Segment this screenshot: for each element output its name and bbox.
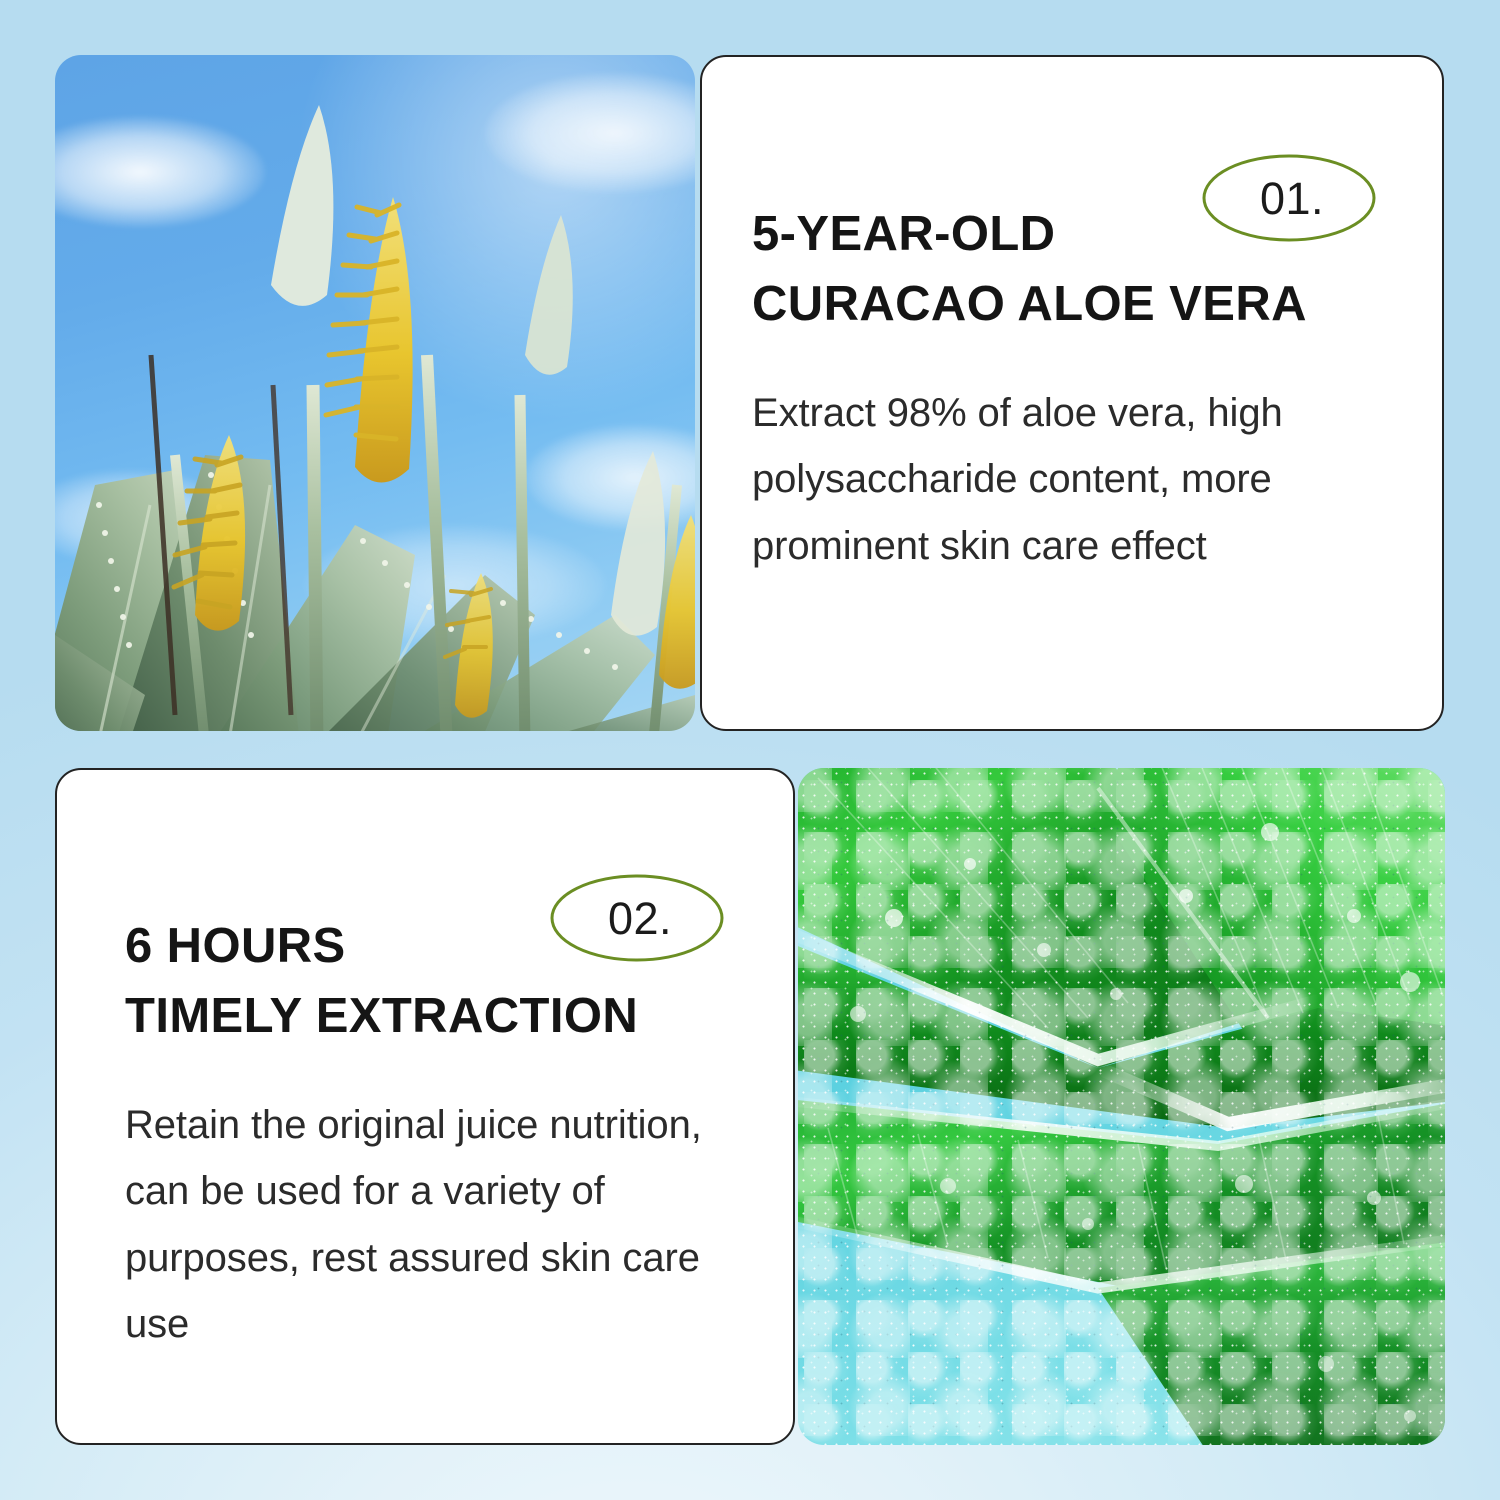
feature-board: 01. 5-YEAR-OLD CURACAO ALOE VERA Extract… bbox=[0, 0, 1500, 1500]
feature-heading-01: 5-YEAR-OLD CURACAO ALOE VERA bbox=[752, 200, 1307, 339]
feature-body-02: Retain the original juice nutrition, can… bbox=[125, 1092, 725, 1358]
gel-droplet-texture bbox=[798, 768, 1445, 1445]
feature-heading-01-line-2: CURACAO ALOE VERA bbox=[752, 270, 1307, 340]
aloe-leaves-illustration bbox=[55, 55, 695, 731]
aloe-gel-photo bbox=[798, 768, 1445, 1445]
aloe-flower-photo bbox=[55, 55, 695, 731]
feature-heading-02-line-2: TIMELY EXTRACTION bbox=[125, 982, 638, 1052]
feature-heading-02: 6 HOURS TIMELY EXTRACTION bbox=[125, 912, 638, 1051]
feature-body-01: Extract 98% of aloe vera, high polysacch… bbox=[752, 380, 1424, 579]
feature-heading-02-line-1: 6 HOURS bbox=[125, 919, 346, 973]
feature-heading-01-line-1: 5-YEAR-OLD bbox=[752, 207, 1055, 261]
